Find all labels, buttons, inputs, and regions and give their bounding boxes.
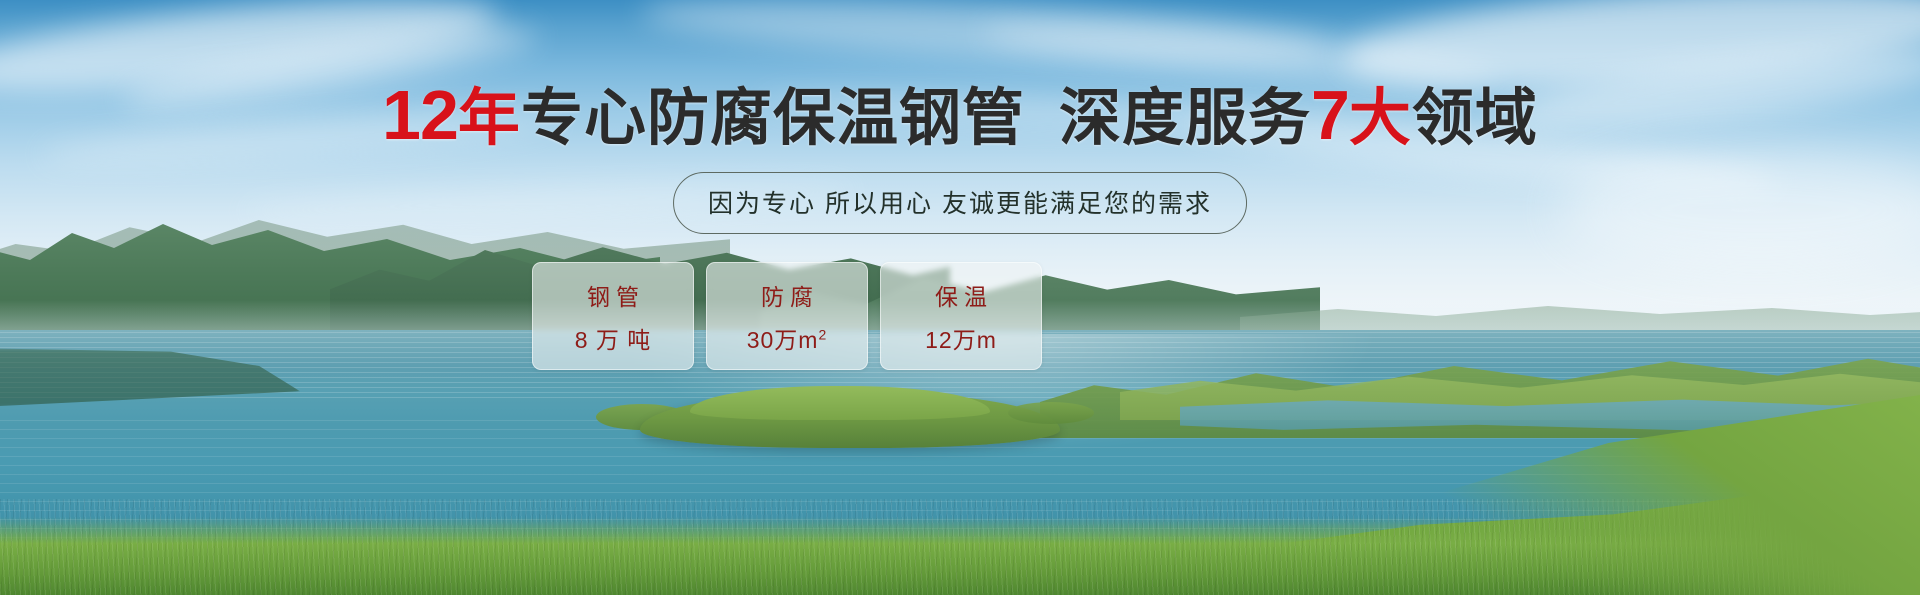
banner-headline: 12年专心防腐保温钢管深度服务7大领域 (0, 80, 1920, 150)
stat-value-text: 12万m (925, 327, 997, 353)
banner-content: 12年专心防腐保温钢管深度服务7大领域 因为专心 所以用心 友诚更能满足您的需求… (0, 0, 1920, 595)
banner-subtitle-pill: 因为专心 所以用心 友诚更能满足您的需求 (673, 172, 1247, 234)
stat-value-text: 30万m (747, 327, 819, 353)
headline-main-text: 专心防腐保温钢管 (521, 84, 1025, 153)
stat-card-steel-pipe: 钢管 8 万 吨 (532, 262, 694, 370)
headline-fields-tail: 领域 (1412, 84, 1538, 153)
stat-card-insulation: 保温 12万m (880, 262, 1042, 370)
headline-fields-unit: 大 (1349, 84, 1412, 153)
stat-value-superscript: 2 (818, 326, 827, 342)
headline-years-number: 12 (382, 76, 458, 154)
stat-card-value: 12万m (925, 321, 997, 355)
headline-years-unit: 年 (458, 84, 521, 153)
stat-card-group: 钢管 8 万 吨 防腐 30万m2 保温 12万m (532, 262, 1042, 370)
headline-service-text: 深度服务 (1059, 84, 1311, 153)
stat-card-label: 钢管 (581, 278, 645, 312)
hero-banner: 12年专心防腐保温钢管深度服务7大领域 因为专心 所以用心 友诚更能满足您的需求… (0, 0, 1920, 595)
stat-card-label: 防腐 (755, 278, 819, 312)
headline-fields-number: 7 (1311, 76, 1349, 154)
stat-value-text: 8 万 吨 (575, 327, 652, 353)
stat-card-label: 保温 (929, 278, 993, 312)
stat-card-value: 30万m2 (747, 321, 828, 355)
stat-card-value: 8 万 吨 (575, 321, 652, 355)
stat-card-anticorrosion: 防腐 30万m2 (706, 262, 868, 370)
